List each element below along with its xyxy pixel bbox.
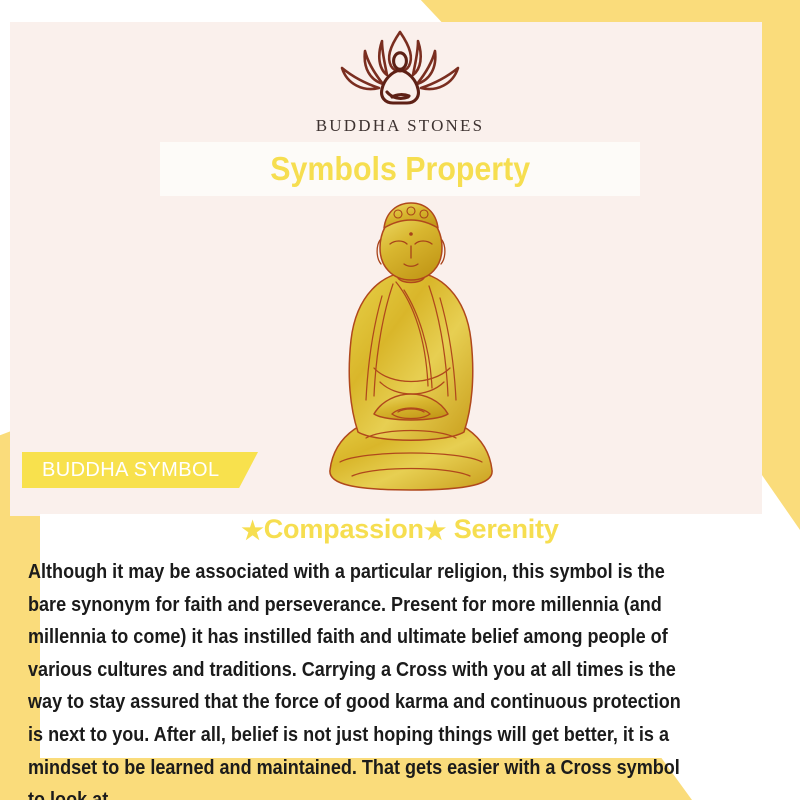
buddha-symbol-label: BUDDHA SYMBOL bbox=[22, 459, 219, 482]
body-paragraph: Although it may be associated with a par… bbox=[28, 556, 687, 800]
title-band: Symbols Property bbox=[160, 142, 640, 196]
page-title: Symbols Property bbox=[270, 150, 530, 188]
buddha-symbol-ribbon: BUDDHA SYMBOL bbox=[22, 452, 258, 488]
buddha-statue-illustration bbox=[318, 200, 504, 496]
keyword-serenity: Serenity bbox=[454, 514, 559, 544]
keywords-heading: ★Compassion★ Serenity bbox=[0, 514, 800, 546]
poster-canvas: BUDDHA STONES Symbols Property bbox=[0, 0, 800, 800]
keyword-compassion: Compassion bbox=[264, 514, 424, 544]
brand-wordmark: BUDDHA STONES bbox=[0, 116, 800, 136]
buddha-statue-image bbox=[318, 200, 504, 496]
star-icon: ★ bbox=[424, 517, 446, 545]
brand-header: BUDDHA STONES bbox=[0, 26, 800, 136]
star-icon: ★ bbox=[241, 517, 263, 545]
lotus-meditation-icon bbox=[325, 26, 475, 112]
